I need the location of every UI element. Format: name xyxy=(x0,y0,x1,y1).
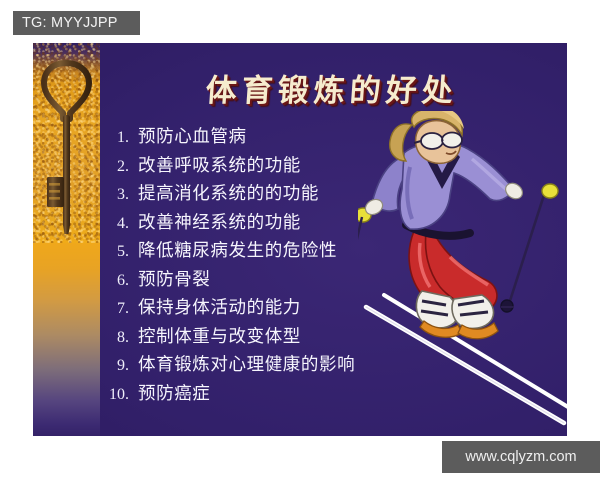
list-item: 7. 保持身体活动的能力 xyxy=(105,294,465,323)
list-item-text: 体育锻炼对心理健康的影响 xyxy=(138,351,355,376)
site-watermark: www.cqlyzm.com xyxy=(442,441,600,473)
list-item-number: 3. xyxy=(105,186,138,204)
list-item-number: 4. xyxy=(105,215,138,233)
list-item-number: 1. xyxy=(105,129,138,147)
list-item-number: 6. xyxy=(105,272,138,290)
list-item-number: 10. xyxy=(105,386,138,404)
list-item-number: 9. xyxy=(105,357,138,375)
list-item: 10. 预防癌症 xyxy=(105,380,465,409)
list-item: 4. 改善神经系统的功能 xyxy=(105,209,465,238)
list-item: 2. 改善呼吸系统的功能 xyxy=(105,152,465,181)
list-item: 1. 预防心血管病 xyxy=(105,123,465,152)
presentation-slide: 体育锻炼的好处 xyxy=(33,43,567,436)
list-item-text: 提高消化系统的的功能 xyxy=(138,180,319,205)
list-item-text: 改善神经系统的功能 xyxy=(138,209,301,234)
list-item: 6. 预防骨裂 xyxy=(105,266,465,295)
key-panel-gradient xyxy=(33,241,100,436)
list-item: 5. 降低糖尿病发生的危险性 xyxy=(105,237,465,266)
list-item-text: 预防心血管病 xyxy=(138,123,247,148)
list-item: 9. 体育锻炼对心理健康的影响 xyxy=(105,351,465,380)
list-item-text: 改善呼吸系统的功能 xyxy=(138,152,301,177)
list-item-text: 保持身体活动的能力 xyxy=(138,294,301,319)
list-item-number: 7. xyxy=(105,300,138,318)
list-item-text: 预防癌症 xyxy=(138,380,210,405)
list-item: 8. 控制体重与改变体型 xyxy=(105,323,465,352)
list-item-text: 预防骨裂 xyxy=(138,266,210,291)
slide-title: 体育锻炼的好处 xyxy=(33,65,567,110)
list-item: 3. 提高消化系统的的功能 xyxy=(105,180,465,209)
benefits-list: 1. 预防心血管病 2. 改善呼吸系统的功能 3. 提高消化系统的的功能 4. … xyxy=(105,123,465,408)
list-item-number: 2. xyxy=(105,158,138,176)
list-item-text: 降低糖尿病发生的危险性 xyxy=(138,237,337,262)
list-item-text: 控制体重与改变体型 xyxy=(138,323,301,348)
list-item-number: 8. xyxy=(105,329,138,347)
list-item-number: 5. xyxy=(105,243,138,261)
tg-watermark-badge: TG: MYYJJPP xyxy=(13,11,140,35)
